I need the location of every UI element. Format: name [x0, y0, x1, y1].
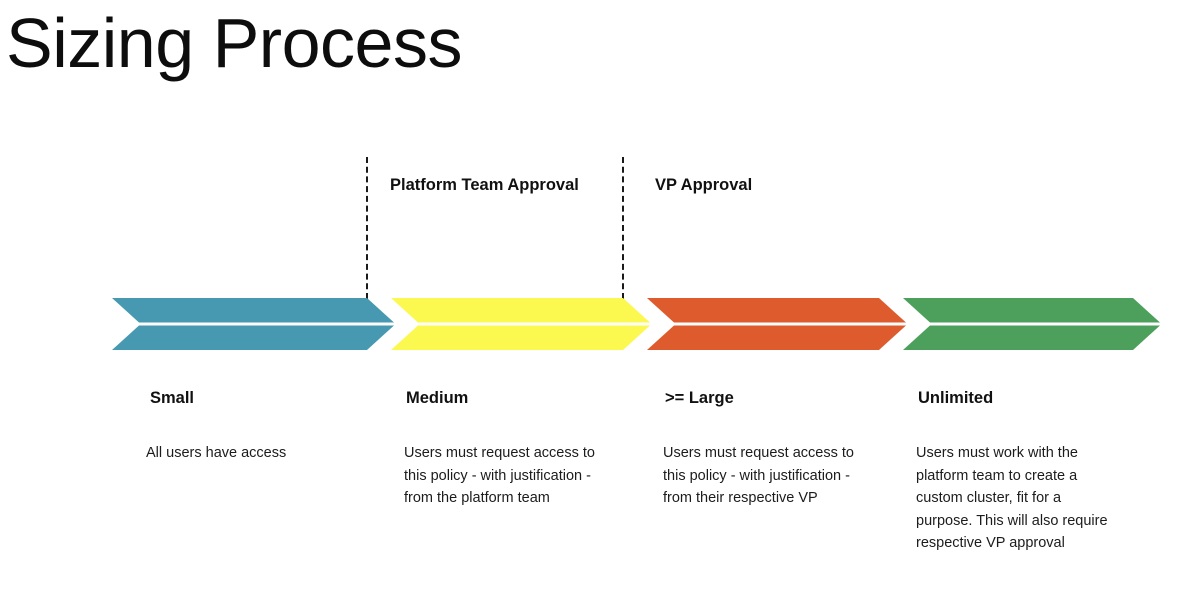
approval-label-vp: VP Approval: [655, 176, 752, 195]
chevron-large-lower: [647, 326, 906, 351]
column-heading-small: Small: [150, 389, 194, 408]
description-line: from the platform team: [404, 487, 595, 510]
description-line: Users must work with the: [916, 442, 1108, 465]
description-line: custom cluster, fit for a: [916, 487, 1108, 510]
column-heading-large: >= Large: [665, 389, 734, 408]
description-line: from their respective VP: [663, 487, 854, 510]
description-line: platform team to create a: [916, 465, 1108, 488]
column-description-small: All users have access: [146, 442, 286, 465]
description-line: purpose. This will also require: [916, 510, 1108, 533]
chevron-medium-lower: [391, 326, 650, 351]
approval-label-platform-team: Platform Team Approval: [390, 176, 579, 195]
process-chevron-band: [0, 292, 1200, 356]
description-line: respective VP approval: [916, 532, 1108, 555]
description-line: Users must request access to: [663, 442, 854, 465]
chevron-small-lower: [112, 326, 394, 351]
page-title: Sizing Process: [6, 8, 462, 78]
description-line: this policy - with justification -: [404, 465, 595, 488]
chevron-unlimited-lower: [903, 326, 1160, 351]
description-line: Users must request access to: [404, 442, 595, 465]
chevron-unlimited-upper: [903, 298, 1160, 323]
divider-vp-approval: [622, 157, 624, 299]
chevron-medium-upper: [391, 298, 650, 323]
description-line: this policy - with justification -: [663, 465, 854, 488]
divider-platform-team-approval: [366, 157, 368, 299]
column-description-large: Users must request access tothis policy …: [663, 442, 854, 510]
column-heading-unlimited: Unlimited: [918, 389, 993, 408]
chevron-large-upper: [647, 298, 906, 323]
description-line: All users have access: [146, 442, 286, 465]
column-heading-medium: Medium: [406, 389, 468, 408]
column-description-medium: Users must request access tothis policy …: [404, 442, 595, 510]
chevron-small-upper: [112, 298, 394, 323]
column-description-unlimited: Users must work with theplatform team to…: [916, 442, 1108, 555]
